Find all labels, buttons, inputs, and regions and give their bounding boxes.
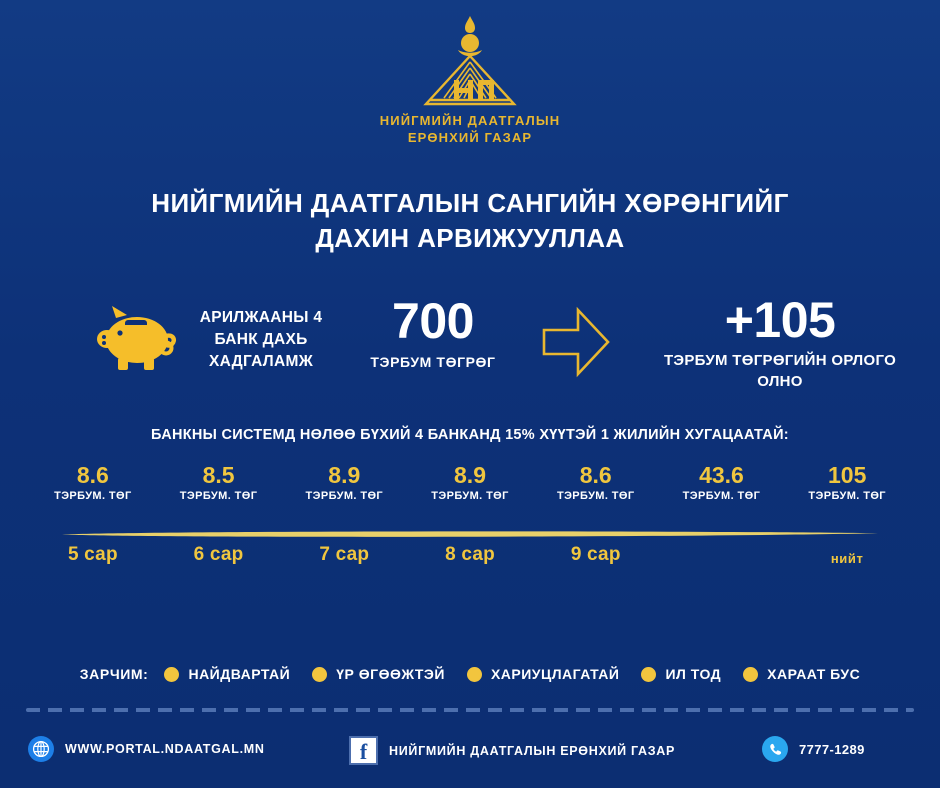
hero-summary-row: АРИЛЖААНЫ 4 БАНК ДАХЬ ХАДГАЛАМЖ 700 ТЭРБ… <box>0 292 940 402</box>
timeline-label: 5 сар <box>30 544 156 566</box>
bullet-dot-icon <box>743 667 758 682</box>
logo-org-line-1: НИЙГМИЙН ДААТГАЛЫН <box>0 112 940 129</box>
principle-item: ИЛ ТОД <box>641 666 721 682</box>
timeline-labels-row: 5 сар 6 сар 7 сар 8 сар 9 сар нийт <box>30 544 910 566</box>
principle-label: ХАРИУЦЛАГАТАЙ <box>491 666 620 682</box>
footer-bar: WWW.PORTAL.NDAATGAL.MN f НИЙГМИЙН ДААТГА… <box>0 730 940 772</box>
principles-row: ЗАРЧИМ: НАЙДВАРТАЙ ҮР ӨГӨӨЖТЭЙ ХАРИУЦЛАГ… <box>0 666 940 682</box>
logo-org-line-2: ЕРӨНХИЙ ГАЗАР <box>0 129 940 146</box>
principle-item: ХАРИУЦЛАГАТАЙ <box>467 666 620 682</box>
bullet-dot-icon <box>164 667 179 682</box>
timeline-values-row: 8.6 ТЭРБУМ. ТӨГ 8.5 ТЭРБУМ. ТӨГ 8.9 ТЭРБ… <box>30 462 910 502</box>
timeline-label: 7 сар <box>281 544 407 566</box>
principle-item: ХАРААТ БУС <box>743 666 860 682</box>
logo-org-name: НИЙГМИЙН ДААТГАЛЫН ЕРӨНХИЙ ГАЗАР <box>0 112 940 146</box>
timeline-value: 105 <box>784 462 910 488</box>
timeline-point: 8.5 ТЭРБУМ. ТӨГ <box>156 462 282 502</box>
timeline-value: 8.9 <box>407 462 533 488</box>
principles-label: ЗАРЧИМ: <box>80 666 149 682</box>
principle-label: ҮР ӨГӨӨЖТЭЙ <box>336 666 445 682</box>
principle-label: НАЙДВАРТАЙ <box>188 666 290 682</box>
timeline-unit: ТЭРБУМ. ТӨГ <box>30 490 156 502</box>
savings-amount-block: 700 ТЭРБУМ ТӨГРӨГ <box>358 294 508 370</box>
footer-website-text: WWW.PORTAL.NDAATGAL.MN <box>65 742 265 756</box>
income-result-value: +105 <box>650 292 910 348</box>
timeline-label: 6 сар <box>156 544 282 566</box>
soyombo-nd-emblem-icon <box>410 12 530 110</box>
timeline-point: 8.9 ТЭРБУМ. ТӨГ <box>281 462 407 502</box>
timeline-value: 8.6 <box>30 462 156 488</box>
timeline-label: 8 сар <box>407 544 533 566</box>
timeline-point: 8.6 ТЭРБУМ. ТӨГ <box>30 462 156 502</box>
principle-label: ИЛ ТОД <box>665 666 721 682</box>
timeline-axis-line <box>62 530 878 539</box>
savings-amount-unit: ТЭРБУМ ТӨГРӨГ <box>358 354 508 370</box>
timeline-unit: ТЭРБУМ. ТӨГ <box>281 490 407 502</box>
timeline-unit: ТЭРБУМ. ТӨГ <box>659 490 785 502</box>
page-title: НИЙГМИЙН ДААТГАЛЫН САНГИЙН ХӨРӨНГИЙГ ДАХ… <box>110 186 830 256</box>
timeline-point: 43.6 ТЭРБУМ. ТӨГ <box>659 462 785 502</box>
timeline-value: 8.9 <box>281 462 407 488</box>
timeline-label-total: нийт <box>784 544 910 566</box>
piggy-bank-icon <box>96 304 178 376</box>
principle-item: ҮР ӨГӨӨЖТЭЙ <box>312 666 445 682</box>
monthly-timeline-chart: 8.6 ТЭРБУМ. ТӨГ 8.5 ТЭРБУМ. ТӨГ 8.9 ТЭРБ… <box>30 462 910 582</box>
timeline-unit: ТЭРБУМ. ТӨГ <box>407 490 533 502</box>
timeline-unit: ТЭРБУМ. ТӨГ <box>156 490 282 502</box>
right-arrow-outline-icon <box>540 302 612 382</box>
timeline-value: 8.5 <box>156 462 282 488</box>
facebook-icon: f <box>349 736 378 765</box>
globe-icon <box>28 736 54 762</box>
footer-divider <box>26 708 914 712</box>
timeline-label: 9 сар <box>533 544 659 566</box>
principle-item: НАЙДВАРТАЙ <box>164 666 290 682</box>
timeline-value: 43.6 <box>659 462 785 488</box>
footer-phone-text: 7777-1289 <box>799 742 865 757</box>
bullet-dot-icon <box>312 667 327 682</box>
income-result-description: ТЭРБУМ ТӨГРӨГИЙН ОРЛОГО ОЛНО <box>650 350 910 392</box>
bullet-dot-icon <box>641 667 656 682</box>
savings-label: АРИЛЖААНЫ 4 БАНК ДАХЬ ХАДГАЛАМЖ <box>186 307 336 373</box>
infographic-page: НИЙГМИЙН ДААТГАЛЫН ЕРӨНХИЙ ГАЗАР НИЙГМИЙ… <box>0 0 940 788</box>
bullet-dot-icon <box>467 667 482 682</box>
timeline-value: 8.6 <box>533 462 659 488</box>
phone-icon <box>762 736 788 762</box>
footer-facebook[interactable]: f НИЙГМИЙН ДААТГАЛЫН ЕРӨНХИЙ ГАЗАР <box>349 736 675 765</box>
timeline-point: 105 ТЭРБУМ. ТӨГ <box>784 462 910 502</box>
timeline-label <box>659 544 785 566</box>
timeline-point: 8.9 ТЭРБУМ. ТӨГ <box>407 462 533 502</box>
footer-facebook-text: НИЙГМИЙН ДААТГАЛЫН ЕРӨНХИЙ ГАЗАР <box>389 744 675 758</box>
footer-website[interactable]: WWW.PORTAL.NDAATGAL.MN <box>28 736 265 762</box>
principle-label: ХАРААТ БУС <box>767 666 860 682</box>
savings-amount-value: 700 <box>358 294 508 348</box>
timeline-point: 8.6 ТЭРБУМ. ТӨГ <box>533 462 659 502</box>
organization-logo: НИЙГМИЙН ДААТГАЛЫН ЕРӨНХИЙ ГАЗАР <box>0 12 940 146</box>
income-result-block: +105 ТЭРБУМ ТӨГРӨГИЙН ОРЛОГО ОЛНО <box>650 292 910 392</box>
footer-phone[interactable]: 7777-1289 <box>762 736 865 762</box>
chart-subtitle: БАНКНЫ СИСТЕМД НӨЛӨӨ БҮХИЙ 4 БАНКАНД 15%… <box>0 427 940 443</box>
timeline-unit: ТЭРБУМ. ТӨГ <box>533 490 659 502</box>
timeline-unit: ТЭРБУМ. ТӨГ <box>784 490 910 502</box>
